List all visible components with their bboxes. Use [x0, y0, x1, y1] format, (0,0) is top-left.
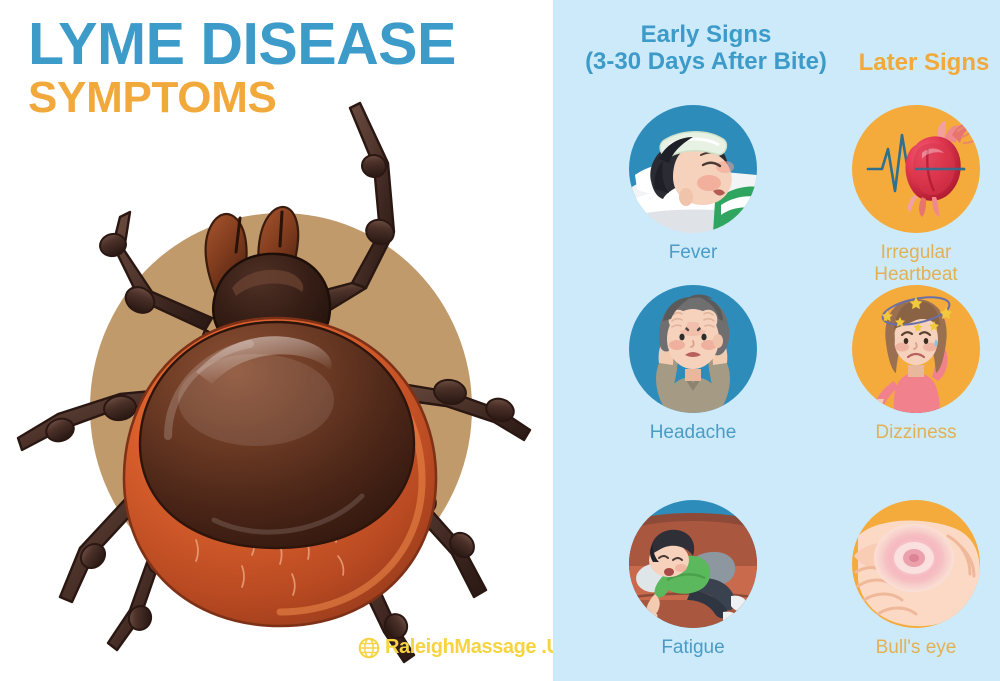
symptom-bulls-eye[interactable]: Bull's eye	[841, 500, 991, 659]
watermark: RaleighMassage .US	[358, 636, 553, 659]
heart-with-ecg-icon	[852, 105, 980, 233]
symptom-dizziness[interactable]: Dizziness	[841, 285, 991, 444]
symptom-label: Bull's eye	[841, 637, 991, 659]
girl-with-stars-icon	[852, 285, 980, 413]
fatigue-icon	[629, 500, 757, 628]
symptom-label: Fever	[618, 242, 768, 264]
tick-vector-art	[0, 0, 553, 681]
symptom-fever[interactable]: Fever	[618, 105, 768, 264]
tick-illustration	[0, 0, 553, 681]
symptom-label: Fatigue	[618, 637, 768, 659]
symptom-label: Headache	[618, 422, 768, 444]
symptom-label: Irregular Heartbeat	[841, 242, 991, 287]
left-panel: LYME DISEASE SYMPTOMS	[0, 0, 553, 681]
lyme-disease-symptoms-infographic: LYME DISEASE SYMPTOMS	[0, 0, 1000, 681]
right-panel: Early Signs (3-30 Days After Bite) Later…	[553, 0, 1000, 681]
early-signs-heading: Early Signs (3-30 Days After Bite)	[561, 22, 851, 76]
globe-icon	[358, 637, 380, 659]
bullseye-rash-icon	[852, 500, 980, 628]
symptom-irregular-heartbeat[interactable]: Irregular Heartbeat	[841, 105, 991, 287]
symptom-label: Dizziness	[841, 422, 991, 444]
watermark-text: RaleighMassage .US	[385, 636, 553, 659]
later-signs-heading: Later Signs	[849, 50, 999, 77]
symptom-fatigue[interactable]: Fatigue	[618, 500, 768, 659]
fever-icon	[629, 105, 757, 233]
symptom-headache[interactable]: Headache	[618, 285, 768, 444]
headache-icon	[629, 285, 757, 413]
